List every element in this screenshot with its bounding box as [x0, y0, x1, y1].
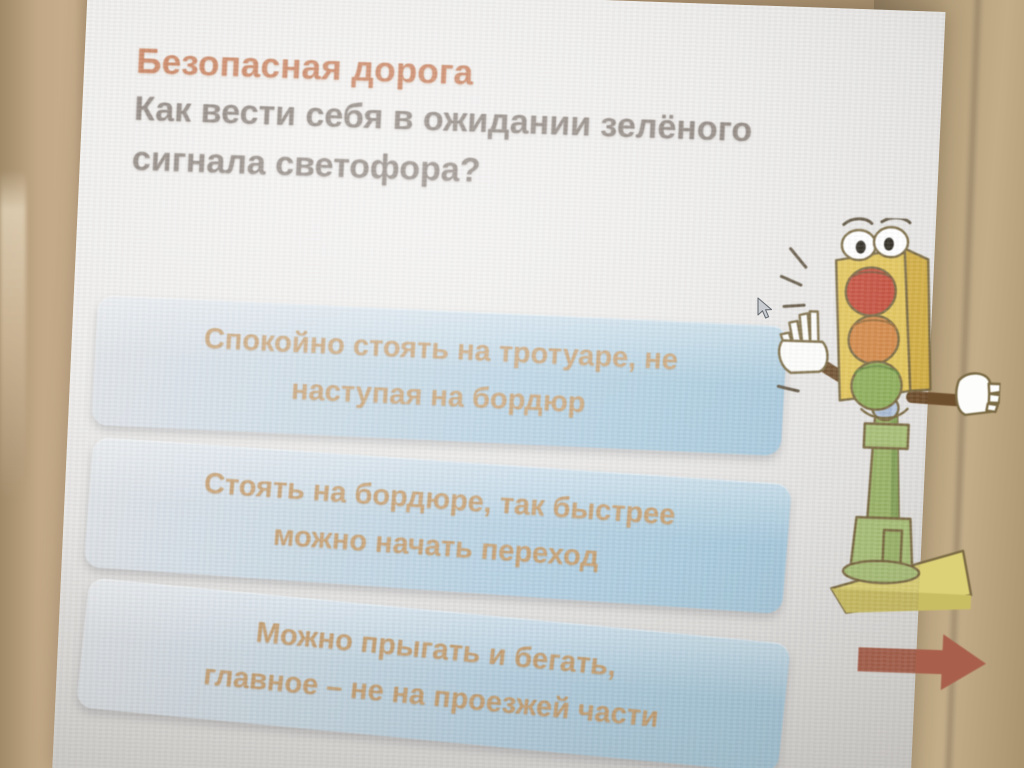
wall-left-highlight — [0, 170, 26, 500]
answer-1-line-1: Спокойно стоять на тротуаре, не — [203, 323, 679, 376]
slide: Безопасная дорога Как вести себя в ожида… — [52, 0, 945, 768]
answer-option-1-text: Спокойно стоять на тротуаре, не наступая… — [116, 312, 763, 435]
answer-option-2-text: Стоять на бордюре, так быстрее можно нач… — [109, 454, 767, 592]
projection-screen: Безопасная дорога Как вести себя в ожида… — [52, 0, 945, 768]
answer-option-1[interactable]: Спокойно стоять на тротуаре, не наступая… — [91, 295, 788, 456]
slide-subtitle: Как вести себя в ожидании зелёного сигна… — [131, 84, 905, 211]
answer-1-line-2: наступая на бордюр — [290, 374, 586, 419]
traffic-light-character-icon — [757, 214, 1008, 692]
mouse-pointer-icon — [757, 297, 775, 321]
screenshot-stage: Безопасная дорога Как вести себя в ожида… — [0, 0, 1024, 768]
right-arrow-icon — [856, 631, 989, 702]
answer-list: Спокойно стоять на тротуаре, не наступая… — [77, 299, 817, 768]
answer-option-3-text: Можно прыгать и бегать, главное – не на … — [102, 596, 766, 751]
answer-2-line-2: можно начать переход — [272, 519, 600, 573]
